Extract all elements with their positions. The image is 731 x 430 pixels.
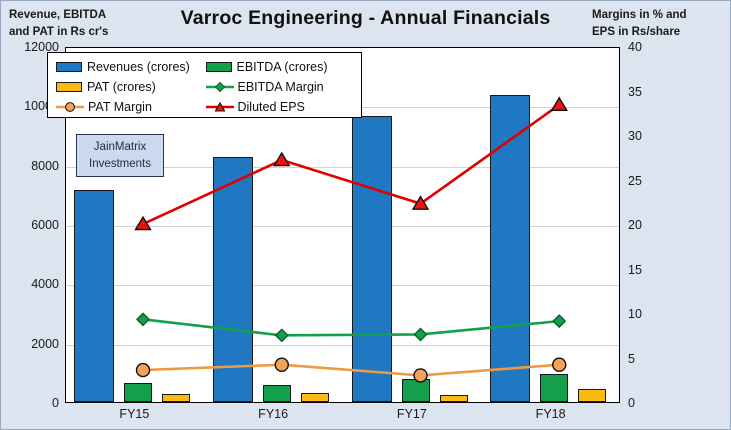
y-axis-tick-left: 2000 [1, 337, 59, 351]
bar-pat-fy16 [301, 393, 329, 402]
chart-legend: Revenues (crores) EBITDA (crores) PAT (c… [47, 52, 362, 118]
bar-revenues-fy18 [490, 95, 530, 402]
bar-ebitda-fy17 [402, 379, 430, 402]
bar-pat-fy18 [578, 389, 606, 402]
y-axis-tick-right: 0 [628, 396, 668, 410]
bar-pat-fy17 [440, 395, 468, 402]
bar-ebitda-fy15 [124, 383, 152, 402]
y-axis-tick-right: 30 [628, 129, 668, 143]
legend-item-diluted-eps: Diluted EPS [206, 100, 356, 114]
gridline [66, 285, 619, 286]
bar-revenues-fy16 [213, 157, 253, 402]
gridline [66, 226, 619, 227]
y-axis-tick-left: 0 [1, 396, 59, 410]
y-axis-tick-right: 35 [628, 85, 668, 99]
legend-row: PAT (crores) EBITDA Margin [56, 77, 355, 97]
bar-pat-fy15 [162, 394, 190, 402]
x-axis-tick-fy16: FY16 [258, 407, 288, 421]
legend-label-diluted-eps: Diluted EPS [238, 100, 305, 114]
watermark-jainmatrix: JainMatrix Investments [76, 134, 164, 177]
legend-label-ebitda-margin: EBITDA Margin [238, 80, 324, 94]
watermark-line1: JainMatrix [79, 139, 161, 156]
y-axis-tick-right: 10 [628, 307, 668, 321]
legend-marker-circle-icon [56, 101, 84, 113]
legend-label-pat-margin: PAT Margin [88, 100, 152, 114]
x-axis-tick-fy17: FY17 [397, 407, 427, 421]
y-axis-tick-right: 15 [628, 263, 668, 277]
bar-ebitda-fy16 [263, 385, 291, 402]
legend-item-pat: PAT (crores) [56, 80, 206, 94]
y-axis-tick-right: 40 [628, 40, 668, 54]
legend-swatch-ebitda-icon [206, 62, 232, 72]
financial-chart: Revenue, EBITDA and PAT in Rs cr's Varro… [1, 1, 730, 429]
legend-row: PAT Margin Diluted EPS [56, 97, 355, 117]
y-axis-tick-right: 25 [628, 174, 668, 188]
bar-revenues-fy15 [74, 190, 114, 402]
legend-item-pat-margin: PAT Margin [56, 100, 206, 114]
legend-swatch-pat-icon [56, 82, 82, 92]
legend-label-pat: PAT (crores) [87, 80, 156, 94]
legend-row: Revenues (crores) EBITDA (crores) [56, 57, 355, 77]
bar-ebitda-fy18 [540, 374, 568, 402]
legend-swatch-revenues-icon [56, 62, 82, 72]
right-axis-caption-line1: Margins in % and [592, 7, 722, 24]
gridline [66, 345, 619, 346]
bar-revenues-fy17 [352, 116, 392, 402]
y-axis-tick-left: 8000 [1, 159, 59, 173]
right-axis-caption-line2: EPS in Rs/share [592, 24, 722, 41]
x-axis-tick-fy15: FY15 [119, 407, 149, 421]
y-axis-tick-right: 20 [628, 218, 668, 232]
y-axis-tick-left: 4000 [1, 277, 59, 291]
right-axis-caption: Margins in % and EPS in Rs/share [592, 7, 722, 40]
legend-marker-diamond-icon [206, 81, 234, 93]
x-axis-tick-fy18: FY18 [536, 407, 566, 421]
legend-marker-triangle-icon [206, 101, 234, 113]
y-axis-tick-left: 6000 [1, 218, 59, 232]
y-axis-tick-right: 5 [628, 352, 668, 366]
legend-item-revenues: Revenues (crores) [56, 60, 206, 74]
legend-item-ebitda-margin: EBITDA Margin [206, 80, 356, 94]
watermark-line2: Investments [79, 156, 161, 173]
legend-label-revenues: Revenues (crores) [87, 60, 190, 74]
legend-label-ebitda: EBITDA (crores) [237, 60, 328, 74]
legend-item-ebitda: EBITDA (crores) [206, 60, 356, 74]
